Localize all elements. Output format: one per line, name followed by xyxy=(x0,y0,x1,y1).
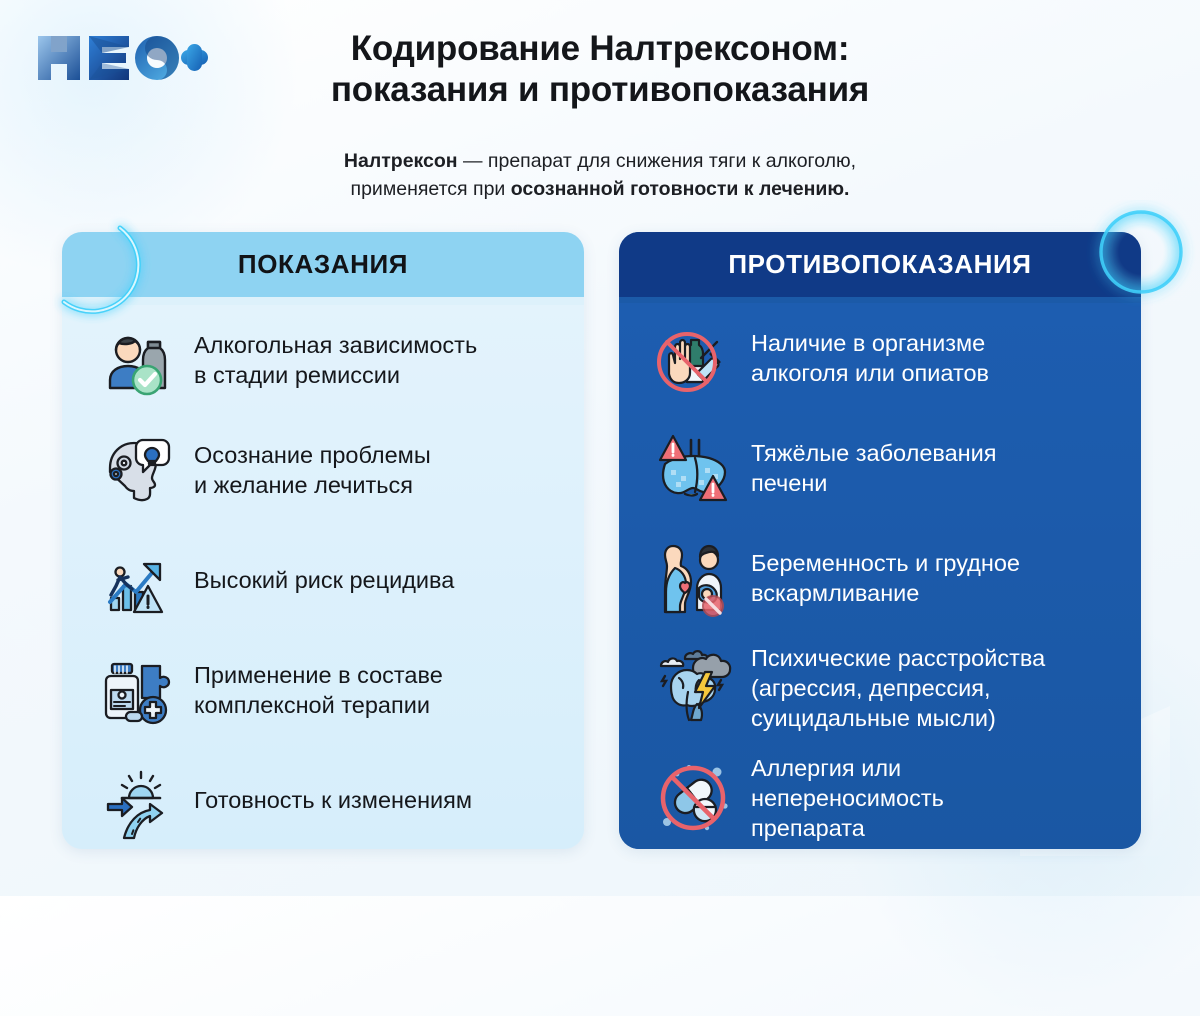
subtitle-drug-name: Налтрексон xyxy=(344,150,458,172)
subtitle-line2-bold: осознанной готовности к лечению. xyxy=(511,178,850,200)
person-bottle-check-icon xyxy=(96,318,180,402)
contraindications-panel: ПРОТИВОПОКАЗАНИЯ xyxy=(619,232,1141,849)
page-title: Кодирование Налтрексоном: показания и пр… xyxy=(232,29,968,111)
medicine-puzzle-cross-icon xyxy=(96,648,180,732)
contraindications-panel-header: ПРОТИВОПОКАЗАНИЯ xyxy=(619,232,1141,297)
list-item-label: Аллергия или непереносимость препарата xyxy=(751,753,944,844)
list-item-label: Тяжёлые заболевания печени xyxy=(751,438,997,499)
list-item: Готовность к изменениям xyxy=(62,745,584,849)
liver-warning-icon xyxy=(653,426,737,510)
neo-plus-logo xyxy=(34,30,210,86)
list-item-label: Наличие в организме алкоголя или опиатов xyxy=(751,328,989,389)
subtitle-description: — препарат для снижения тяги к алкоголю, xyxy=(458,150,856,172)
list-item: Применение в составе комплексной терапии xyxy=(62,635,584,745)
page-header: Кодирование Налтрексоном: показания и пр… xyxy=(0,0,1200,212)
page-title-line-2: показания и противопоказания xyxy=(331,70,869,109)
brain-storm-icon xyxy=(653,646,737,730)
list-item-label: Беременность и грудное вскармливание xyxy=(751,548,1020,609)
list-item-label: Психические расстройства (агрессия, депр… xyxy=(751,643,1045,734)
list-item: Беременность и грудное вскармливание xyxy=(619,523,1141,633)
list-item-label: Алкогольная зависимость в стадии ремисси… xyxy=(194,330,477,391)
sunrise-road-arrow-icon xyxy=(96,758,180,842)
no-pills-allergy-icon xyxy=(653,756,737,840)
subtitle-line2-plain: применяется при xyxy=(351,178,511,200)
pregnancy-breastfeeding-icon xyxy=(653,536,737,620)
growth-chart-risk-icon xyxy=(96,538,180,622)
no-alcohol-syringe-icon xyxy=(653,316,737,400)
head-gears-lightbulb-icon xyxy=(96,428,180,512)
list-item-label: Высокий риск рецидива xyxy=(194,565,454,595)
indications-list: Алкогольная зависимость в стадии ремисси… xyxy=(62,305,584,849)
list-item: Наличие в организме алкоголя или опиатов xyxy=(619,303,1141,413)
list-item-label: Применение в составе комплексной терапии xyxy=(194,660,443,721)
list-item-label: Готовность к изменениям xyxy=(194,785,472,815)
list-item: Алкогольная зависимость в стадии ремисси… xyxy=(62,305,584,415)
list-item: Тяжёлые заболевания печени xyxy=(619,413,1141,523)
list-item: Аллергия или непереносимость препарата xyxy=(619,743,1141,849)
list-item: Осознание проблемы и желание лечиться xyxy=(62,415,584,525)
page-title-line-1: Кодирование Налтрексоном: xyxy=(351,29,850,68)
indications-panel-header: ПОКАЗАНИЯ xyxy=(62,232,584,297)
list-item-label: Осознание проблемы и желание лечиться xyxy=(194,440,431,501)
indications-panel: ПОКАЗАНИЯ Алког xyxy=(62,232,584,849)
indications-heading: ПОКАЗАНИЯ xyxy=(238,249,408,280)
contraindications-heading: ПРОТИВОПОКАЗАНИЯ xyxy=(728,249,1031,280)
list-item: Высокий риск рецидива xyxy=(62,525,584,635)
page-subtitle: Налтрексон — препарат для снижения тяги … xyxy=(232,148,968,203)
contraindications-list: Наличие в организме алкоголя или опиатов xyxy=(619,303,1141,849)
list-item: Психические расстройства (агрессия, депр… xyxy=(619,633,1141,743)
